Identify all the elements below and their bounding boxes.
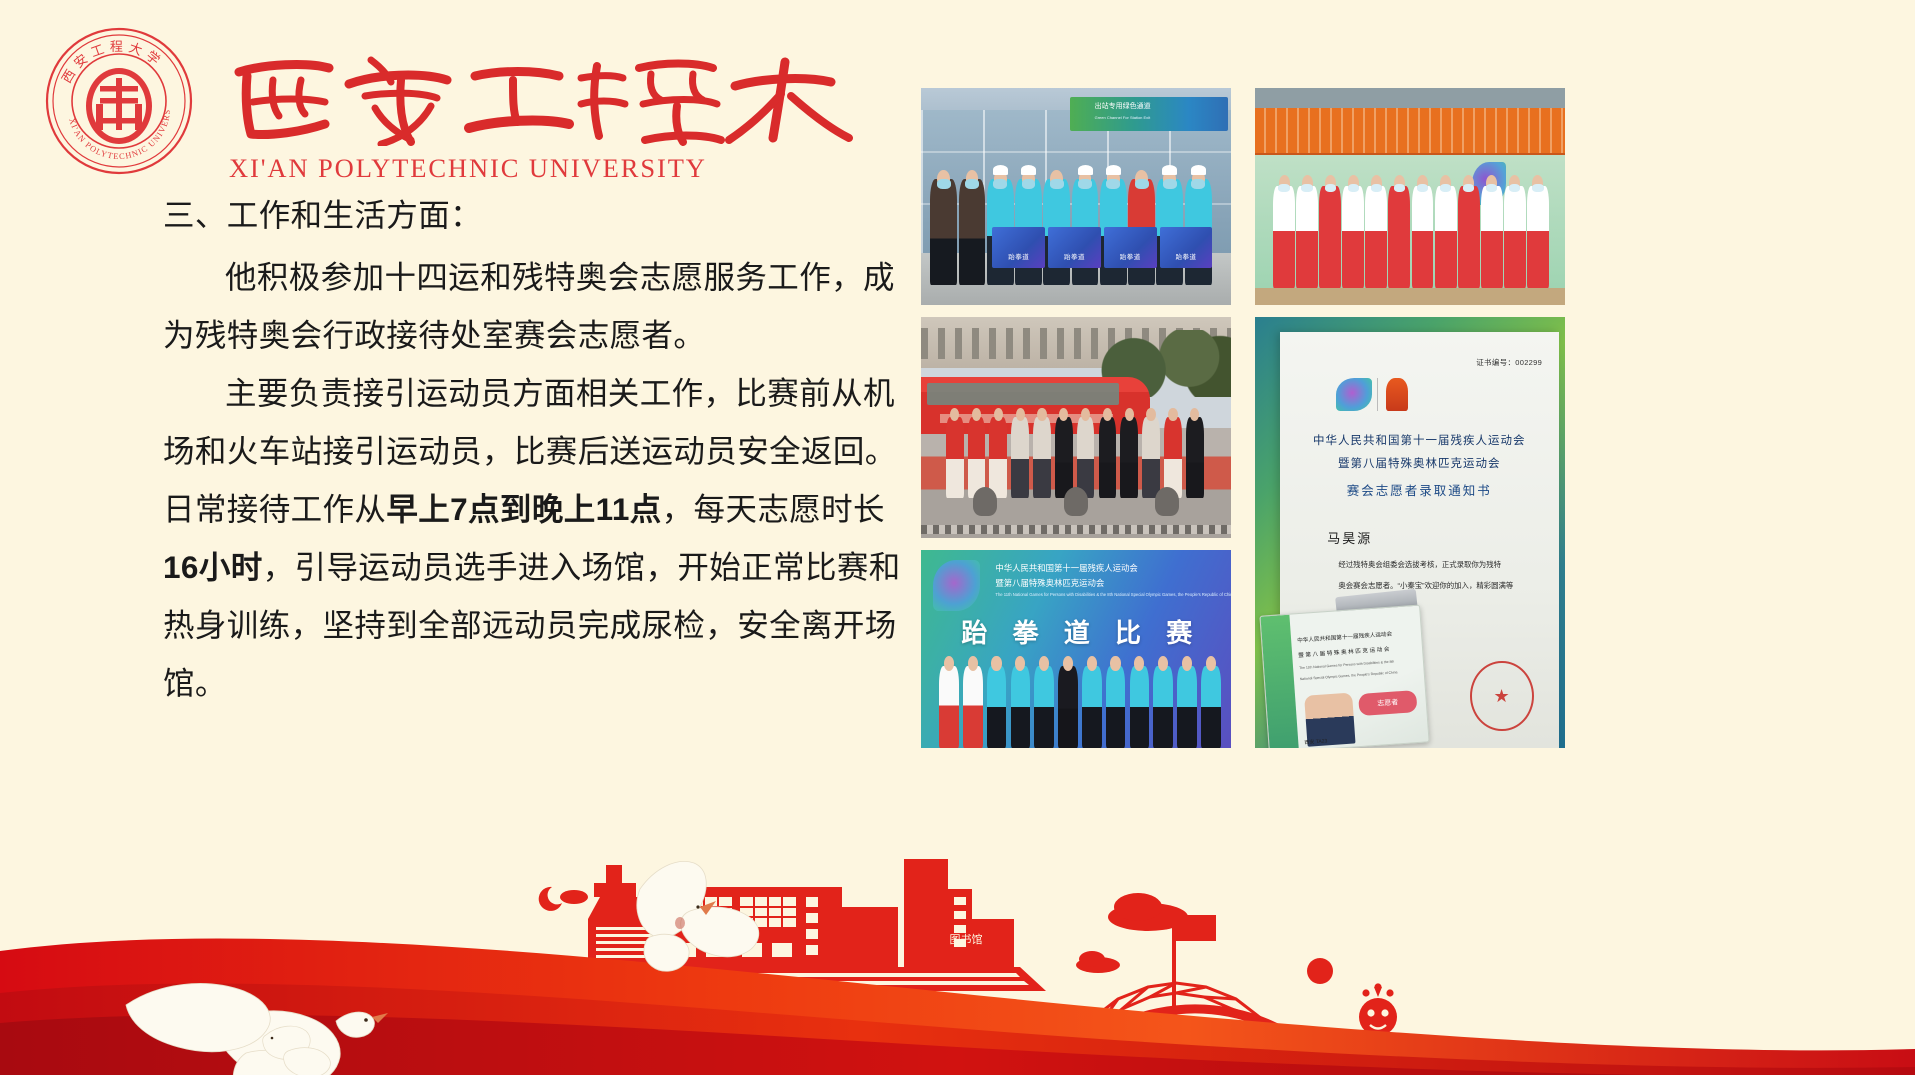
badge-line4: National Special Olympic Games, the Peop… — [1300, 670, 1398, 681]
text-run: 热身训练，坚持到全部远动员完成尿检，安全离开场 — [163, 607, 897, 643]
certificate-body-line1: 经过残特奥会组委会选拔考核，正式录取你为残特 — [1338, 559, 1536, 570]
photo4-backdrop-line3: The 11th National Games for Persons with… — [995, 592, 1231, 597]
red-wave-top — [0, 939, 1915, 1075]
certificate-line1: 中华人民共和国第十一届残疾人运动会 — [1280, 432, 1559, 448]
placard-label: 跆拳道 — [1048, 251, 1101, 261]
photo4-backdrop-line2: 暨第八届特殊奥林匹克运动会 — [995, 577, 1104, 589]
dove-medium-icon — [637, 861, 759, 971]
photo-red-bus-athlete-arrival[interactable] — [921, 317, 1231, 538]
photo-volunteer-admission-certificate[interactable]: 证书编号：002299 中华人民共和国第十一届残疾人运动会 暨第八届特殊奥林匹克… — [1255, 317, 1565, 748]
section-heading: 三、工作和生活方面： — [163, 186, 863, 244]
red-wave-bottom — [0, 1015, 1915, 1075]
gate-label: 西安工程大学 — [1153, 1037, 1231, 1052]
paragraph-list: 他积极参加十四运和残特奥会志愿服务工作，成为残特奥会行政接待处室赛会志愿者。主要… — [163, 248, 863, 712]
photo4-headline: 跆 拳 道 比 赛 — [961, 613, 1201, 650]
text-run: 日常接待工作从 — [163, 491, 386, 527]
sun-dot-icon — [1307, 958, 1333, 984]
dove-small-icon — [263, 1026, 331, 1075]
text-line: 主要负责接引运动员方面相关工作，比赛前从机 — [163, 364, 863, 422]
dove-large-icon — [126, 983, 388, 1075]
mascot-icon — [1349, 983, 1407, 1060]
emphasis-run: 早上7点到晚上11点 — [386, 491, 661, 527]
text-line: 16小时，引导运动员选手进入场馆，开始正常比赛和 — [163, 538, 863, 596]
certificate-number: 证书编号：002299 — [1476, 357, 1542, 368]
text-line: 他积极参加十四运和残特奥会志愿服务工作，成 — [163, 248, 863, 306]
text-run: 他积极参加十四运和残特奥会志愿服务工作，成 — [225, 259, 895, 295]
placard-label: 跆拳道 — [992, 251, 1045, 261]
text-line: 为残特奥会行政接待处室赛会志愿者。 — [163, 306, 863, 364]
slide-canvas: 西安工程大学 XI'AN POLYTECHNIC UNIVERSITY — [0, 0, 1915, 1075]
torch-icon — [1386, 378, 1408, 411]
university-seal-icon: 西安工程大学 XI'AN POLYTECHNIC UNIVERSITY — [44, 26, 194, 176]
text-run: 主要负责接引运动员方面相关工作，比赛前从机 — [225, 375, 895, 411]
photo4-backdrop-line1: 中华人民共和国第十一届残疾人运动会 — [995, 562, 1137, 574]
cloud-icons — [539, 887, 1188, 973]
text-run: 为残特奥会行政接待处室赛会志愿者。 — [163, 317, 705, 353]
wordmark-chinese-calligraphy — [225, 50, 865, 146]
shaanxi-games-emblem-icon — [933, 560, 980, 611]
text-line: 场和火车站接引运动员，比赛后送运动员安全返回。 — [163, 422, 863, 480]
certificate-line3: 赛会志愿者录取通知书 — [1280, 480, 1559, 499]
games-emblem-icon — [1336, 378, 1372, 411]
wordmark-english: XI'AN POLYTECHNIC UNIVERSITY — [229, 153, 707, 184]
text-line: 馆。 — [163, 654, 863, 712]
badge-line3: The 11th National Games for Persons with… — [1299, 659, 1394, 670]
photo-red-tracksuit-team[interactable] — [1255, 88, 1565, 305]
emphasis-run: 16小时 — [163, 549, 263, 585]
badge-line1: 中华人民共和国第十一届残疾人运动会 — [1297, 629, 1392, 644]
certificate-line2: 暨第八届特殊奥林匹克运动会 — [1280, 455, 1559, 471]
volunteer-id-badge: 中华人民共和国第十一届残疾人运动会 暨 第 八 届 特 殊 奥 林 匹 克 运 … — [1260, 605, 1430, 748]
campus-silhouette: 图书馆 — [534, 859, 1046, 991]
text-line: 日常接待工作从早上7点到晚上11点，每天志愿时长 — [163, 480, 863, 538]
photo-airport-welcome-group[interactable]: 出站专用绿色通道 Green Channel For Station Exit — [921, 88, 1231, 305]
body-text-block: 三、工作和生活方面： 他积极参加十四运和残特奥会志愿服务工作，成为残特奥会行政接… — [163, 186, 863, 712]
photo-taekwondo-competition-backdrop[interactable]: 中华人民共和国第十一届残疾人运动会 暨第八届特殊奥林匹克运动会 The 11th… — [921, 550, 1231, 748]
photo-collage: 出站专用绿色通道 Green Channel For Station Exit — [921, 88, 1891, 748]
text-run: 场和火车站接引运动员，比赛后送运动员安全返回。 — [163, 433, 897, 469]
library-label: 图书馆 — [950, 932, 983, 946]
text-run: ，引导运动员选手进入场馆，开始正常比赛和 — [263, 549, 901, 585]
certificate-recipient-name: 马昊源 — [1327, 528, 1372, 547]
text-run: ，每天志愿时长 — [662, 491, 885, 527]
university-brand-header: 西安工程大学 XI'AN POLYTECHNIC UNIVERSITY — [40, 22, 860, 172]
text-line: 热身训练，坚持到全部远动员完成尿检，安全离开场 — [163, 596, 863, 654]
red-wave-mid — [0, 983, 1915, 1075]
official-red-stamp-icon: ★ — [1470, 661, 1534, 732]
campus-gate-arch: 西安工程大学 — [1042, 915, 1338, 1061]
photo1-banner-text: 出站专用绿色通道 — [1095, 101, 1151, 111]
badge-role-label: 志愿者 — [1359, 690, 1418, 716]
placard-label: 跆拳道 — [1160, 251, 1213, 261]
text-run: 馆。 — [163, 665, 227, 701]
photo1-placards: 跆拳道 跆拳道 跆拳道 跆拳道 — [992, 227, 1212, 268]
certificate-body-line2: 奥会赛会志愿者。“小秦宝”欢迎你的加入，精彩圆满等 — [1338, 580, 1536, 591]
badge-line2: 暨 第 八 届 特 殊 奥 林 匹 克 运 动 会 — [1298, 645, 1390, 659]
placard-label: 跆拳道 — [1104, 251, 1157, 261]
photo1-banner-text-en: Green Channel For Station Exit — [1095, 115, 1151, 120]
